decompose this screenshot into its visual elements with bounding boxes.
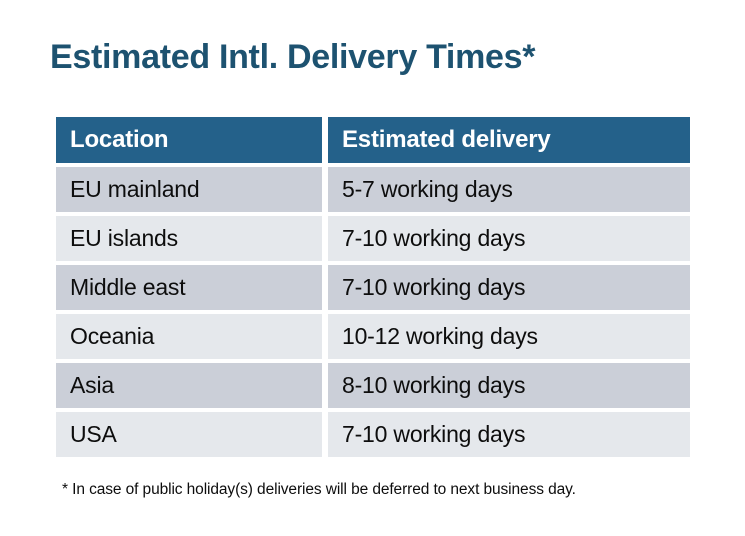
page-title: Estimated Intl. Delivery Times* [50, 36, 535, 78]
table-header-row: Location Estimated delivery [56, 117, 690, 163]
column-header-estimated-delivery: Estimated delivery [328, 117, 690, 163]
cell-delivery: 7-10 working days [328, 412, 690, 457]
table-row: Oceania 10-12 working days [56, 314, 690, 359]
table-row: EU islands 7-10 working days [56, 216, 690, 261]
cell-delivery: 5-7 working days [328, 167, 690, 212]
cell-delivery: 7-10 working days [328, 216, 690, 261]
cell-location: Asia [56, 363, 322, 408]
table-row: Asia 8-10 working days [56, 363, 690, 408]
column-header-location: Location [56, 117, 322, 163]
table-row: EU mainland 5-7 working days [56, 167, 690, 212]
cell-location: Oceania [56, 314, 322, 359]
cell-delivery: 8-10 working days [328, 363, 690, 408]
cell-delivery: 10-12 working days [328, 314, 690, 359]
table-row: USA 7-10 working days [56, 412, 690, 457]
cell-location: EU mainland [56, 167, 322, 212]
cell-location: USA [56, 412, 322, 457]
cell-delivery: 7-10 working days [328, 265, 690, 310]
table-row: Middle east 7-10 working days [56, 265, 690, 310]
cell-location: EU islands [56, 216, 322, 261]
estimated-delivery-times-table: Location Estimated delivery EU mainland … [50, 113, 696, 461]
cell-location: Middle east [56, 265, 322, 310]
delivery-times-page: Estimated Intl. Delivery Times* Location… [0, 0, 745, 536]
footnote-text: * In case of public holiday(s) deliverie… [62, 481, 576, 499]
